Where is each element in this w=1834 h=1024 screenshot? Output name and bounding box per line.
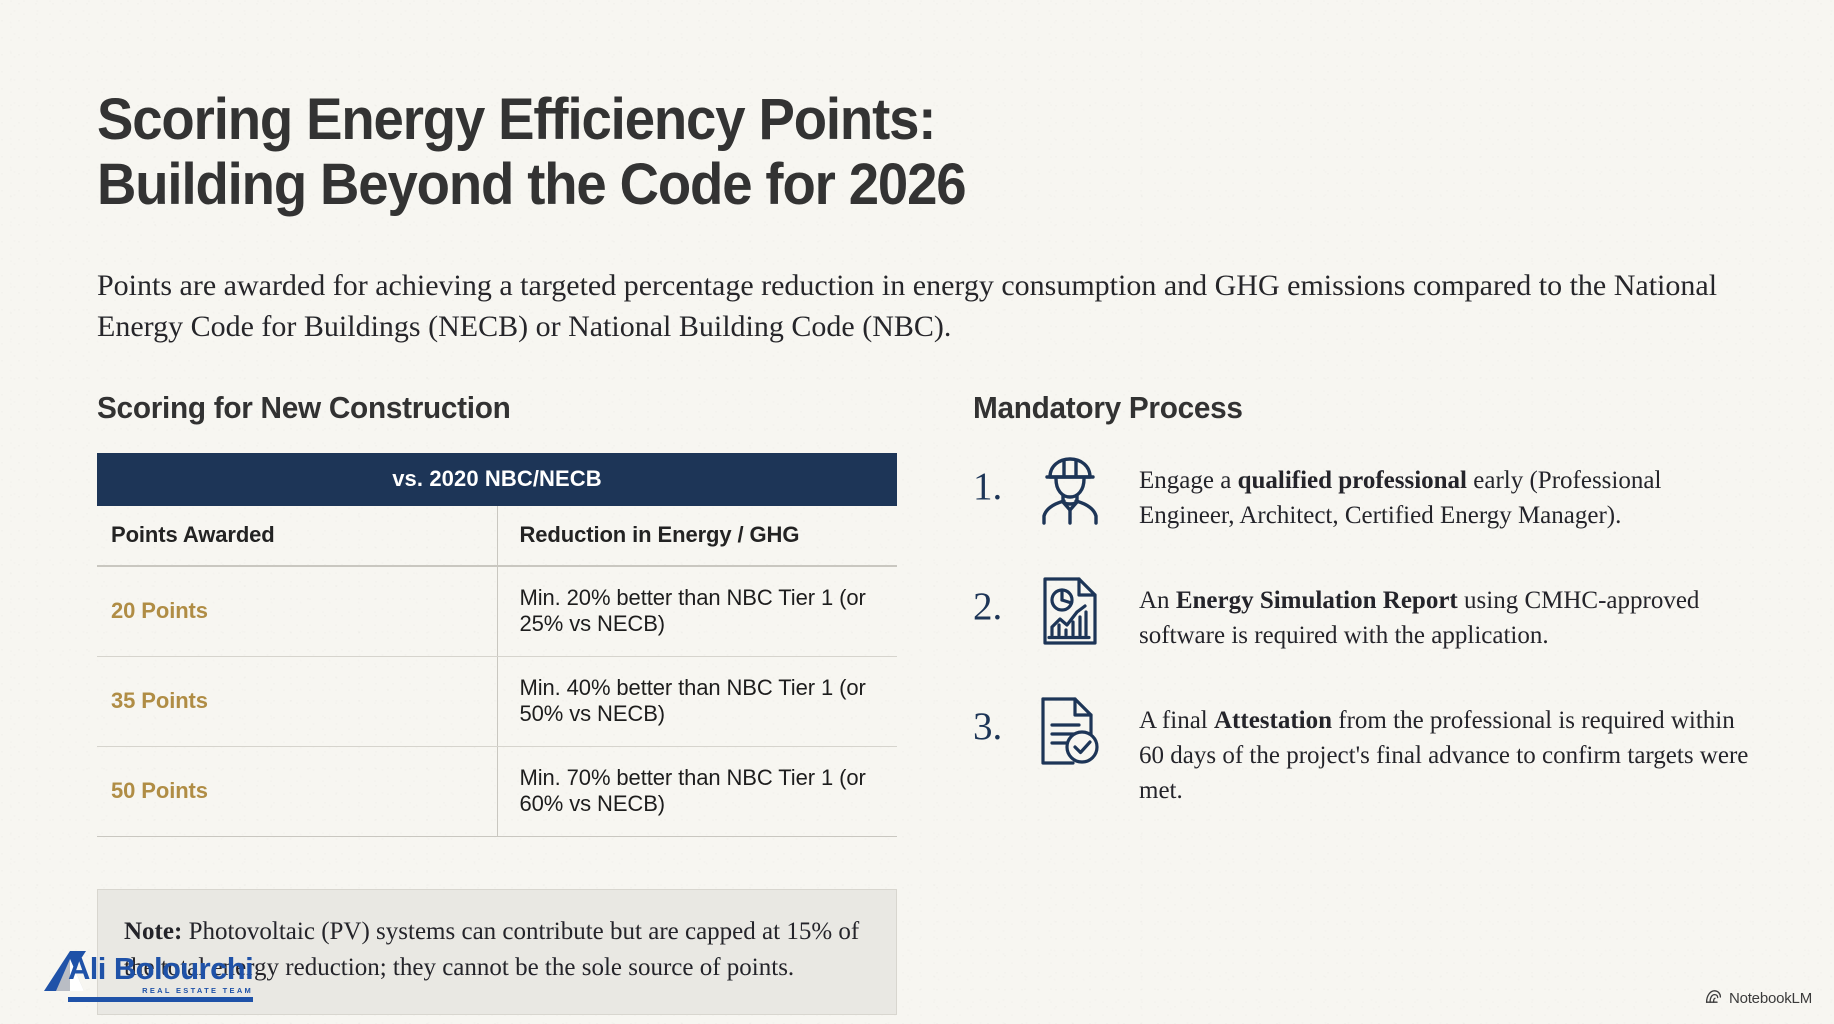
reduction-value: Min. 20% better than NBC Tier 1 (or 25% … [497,566,897,657]
table-row: 50 Points Min. 70% better than NBC Tier … [97,747,897,837]
list-item: 2. [973,573,1757,653]
logo-name: Ali Bolourchi [68,953,253,984]
step-number: 1. [973,453,1029,506]
scoring-section-heading: Scoring for New Construction [97,390,865,426]
list-item: 1. [973,453,1757,533]
page-subtitle: Points are awarded for achieving a targe… [97,265,1757,348]
table-row: 35 Points Min. 40% better than NBC Tier … [97,657,897,747]
step-description: A final Attestation from the professiona… [1111,693,1757,808]
process-column: Mandatory Process 1. [973,390,1757,1015]
step-text-before: An [1139,587,1176,614]
slide-canvas: Scoring Energy Efficiency Points: Buildi… [0,0,1834,1024]
step-description: Engage a qualified professional early (P… [1111,453,1757,533]
column-header-reduction: Reduction in Energy / GHG [497,506,897,566]
step-text-before: Engage a [1139,467,1238,494]
logo-wordmark: Ali Bolourchi REAL ESTATE TEAM [68,953,253,1002]
title-line-2: Building Beyond the Code for 2026 [97,153,1319,218]
reduction-value: Min. 40% better than NBC Tier 1 (or 50% … [497,657,897,747]
content-columns: Scoring for New Construction vs. 2020 NB… [97,390,1757,1015]
process-steps-list: 1. [973,453,1757,808]
step-text-bold: qualified professional [1238,467,1467,494]
scoring-table: vs. 2020 NBC/NECB Points Awarded Reducti… [97,453,897,837]
reduction-value: Min. 70% better than NBC Tier 1 (or 60% … [497,747,897,837]
notebooklm-label: NotebookLM [1729,990,1812,1007]
page-title: Scoring Energy Efficiency Points: Buildi… [97,88,1319,218]
step-description: An Energy Simulation Report using CMHC-a… [1111,573,1757,653]
table-header-row: Points Awarded Reduction in Energy / GHG [97,506,897,566]
report-chart-document-icon [1029,573,1111,647]
logo-tagline: REAL ESTATE TEAM [68,986,253,995]
hard-hat-worker-icon [1029,453,1111,525]
table-banner: vs. 2020 NBC/NECB [97,453,897,506]
step-number: 3. [973,693,1029,746]
process-section-heading: Mandatory Process [973,390,1726,426]
note-label: Note: [124,918,182,945]
table-row: 20 Points Min. 20% better than NBC Tier … [97,566,897,657]
notebooklm-spiral-icon [1705,989,1722,1008]
step-text-bold: Energy Simulation Report [1176,587,1458,614]
logo-underline [68,997,253,1002]
table-banner-row: vs. 2020 NBC/NECB [97,453,897,506]
points-value: 35 Points [97,657,497,747]
title-line-1: Scoring Energy Efficiency Points: [97,87,935,152]
step-text-before: A final [1139,707,1214,734]
notebooklm-watermark: NotebookLM [1705,989,1812,1008]
scoring-column: Scoring for New Construction vs. 2020 NB… [97,390,897,1015]
list-item: 3. A fina [973,693,1757,808]
points-value: 50 Points [97,747,497,837]
title-block: Scoring Energy Efficiency Points: Buildi… [97,88,1397,218]
step-number: 2. [973,573,1029,626]
column-header-points: Points Awarded [97,506,497,566]
step-text-bold: Attestation [1214,707,1332,734]
brand-logo: Ali Bolourchi REAL ESTATE TEAM [40,956,253,1002]
document-check-icon [1029,693,1111,767]
points-value: 20 Points [97,566,497,657]
